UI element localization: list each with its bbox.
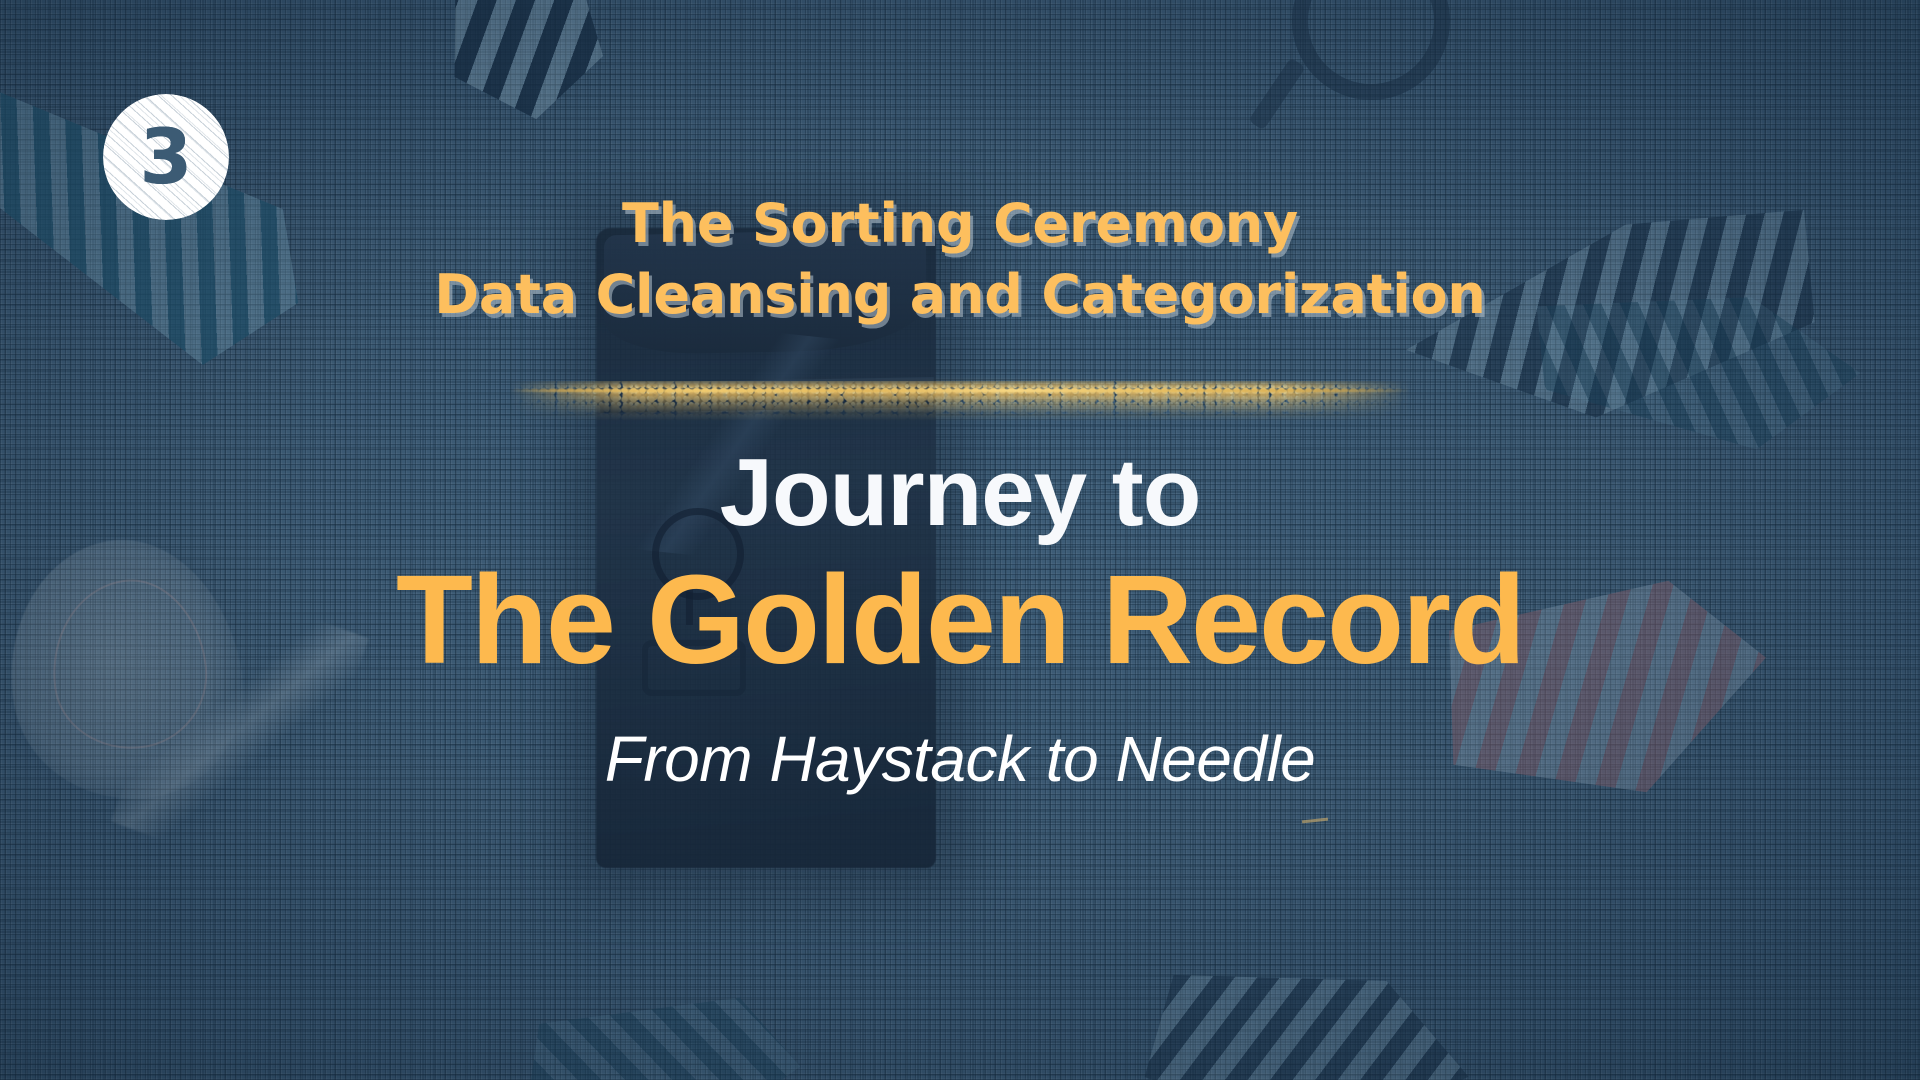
slide-eyebrow-line-2: Data Cleansing and Categorization: [434, 259, 1485, 330]
divider-line: [510, 389, 1410, 392]
slide-eyebrow-line-1: The Sorting Ceremony: [622, 192, 1298, 255]
slide-content: The Sorting Ceremony Data Cleansing and …: [0, 0, 1920, 1080]
slide-tagline: From Haystack to Needle: [605, 727, 1316, 791]
slide-title-line-1: Journey to: [720, 445, 1201, 541]
slide-eyebrow: The Sorting Ceremony Data Cleansing and …: [434, 188, 1485, 331]
gold-glitter-divider-icon: [510, 361, 1410, 423]
divider-glitter-particles: [510, 381, 1410, 421]
presentation-slide: 3 The Sorting Ceremony Data Cleansing an…: [0, 0, 1920, 1080]
slide-title-line-2: The Golden Record: [396, 557, 1524, 683]
